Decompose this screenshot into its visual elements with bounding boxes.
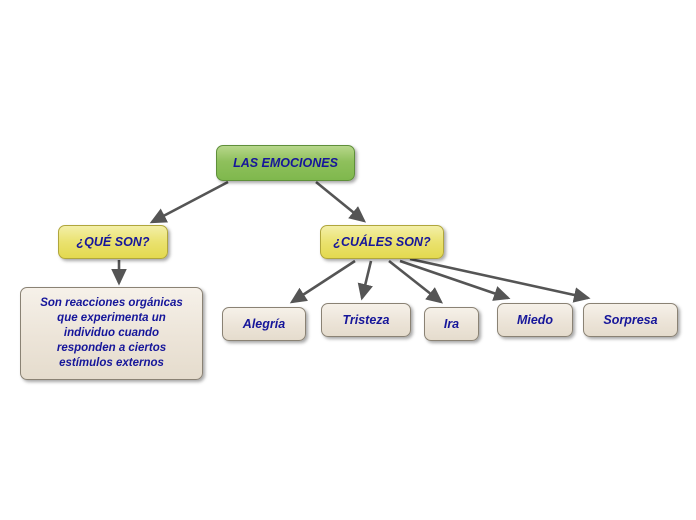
node-las-emociones[interactable]: LAS EMOCIONES bbox=[216, 145, 355, 181]
node-tristeza[interactable]: Tristeza bbox=[321, 303, 411, 337]
node-label: ¿QUÉ SON? bbox=[77, 235, 150, 249]
node-label: Ira bbox=[444, 317, 459, 331]
node-descripcion[interactable]: Son reacciones orgánicas que experimenta… bbox=[20, 287, 203, 380]
node-label: ¿CUÁLES SON? bbox=[333, 235, 430, 249]
edge-cuales-to-tristeza bbox=[362, 261, 371, 298]
mindmap-canvas: LAS EMOCIONES ¿QUÉ SON? ¿CUÁLES SON? Son… bbox=[0, 0, 696, 520]
node-label: LAS EMOCIONES bbox=[233, 156, 338, 170]
node-label: Son reacciones orgánicas que experimenta… bbox=[29, 296, 194, 372]
node-cuales-son[interactable]: ¿CUÁLES SON? bbox=[320, 225, 444, 259]
node-miedo[interactable]: Miedo bbox=[497, 303, 573, 337]
edge-root-to-que-son bbox=[152, 182, 228, 222]
edge-cuales-to-miedo bbox=[400, 261, 508, 298]
connector-layer bbox=[0, 0, 696, 520]
node-label: Miedo bbox=[517, 313, 553, 327]
node-alegria[interactable]: Alegría bbox=[222, 307, 306, 341]
node-label: Tristeza bbox=[342, 313, 389, 327]
node-label: Alegría bbox=[243, 317, 285, 331]
edge-cuales-to-sorpresa bbox=[410, 259, 588, 298]
node-sorpresa[interactable]: Sorpresa bbox=[583, 303, 678, 337]
edge-cuales-to-alegria bbox=[292, 261, 355, 302]
node-ira[interactable]: Ira bbox=[424, 307, 479, 341]
node-label: Sorpresa bbox=[603, 313, 657, 327]
node-que-son[interactable]: ¿QUÉ SON? bbox=[58, 225, 168, 259]
edge-root-to-cuales-son bbox=[316, 182, 364, 221]
